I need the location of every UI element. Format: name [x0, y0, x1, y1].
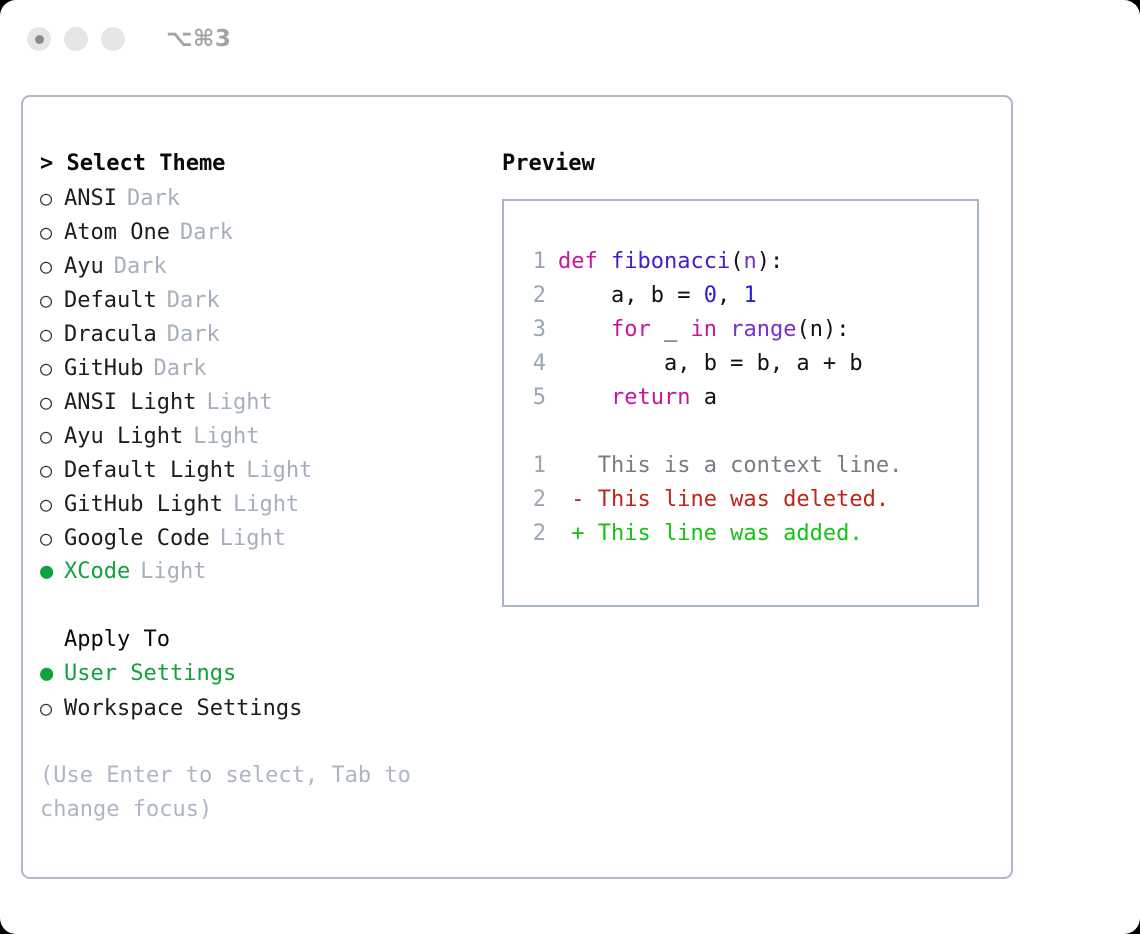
code-line: 3 for _ in range(n):	[516, 313, 977, 347]
theme-item-label: Default Light	[64, 454, 236, 488]
code-line-text: def fibonacci(n):	[558, 245, 783, 279]
keyboard-hint: (Use Enter to select, Tab to change focu…	[40, 759, 440, 827]
theme-item-label: Ayu Light	[64, 420, 183, 454]
diff-line: 2 - This line was deleted.	[516, 483, 977, 517]
radio-unselected-icon: ○	[40, 351, 64, 385]
code-token: (	[730, 249, 743, 274]
code-diff-gap	[516, 415, 977, 449]
code-line-number: 3	[516, 313, 546, 347]
code-token: a	[704, 385, 717, 410]
theme-item-xcode[interactable]: ●XCodeLight	[40, 555, 490, 589]
theme-item-variant: Light	[233, 488, 299, 522]
code-line-number: 2	[516, 279, 546, 313]
theme-item-variant: Light	[246, 454, 312, 488]
code-line-number: 1	[516, 245, 546, 279]
list-gap	[40, 589, 490, 623]
code-line: 5 return a	[516, 381, 977, 415]
radio-unselected-icon: ○	[40, 453, 64, 487]
diff-line-text: + This line was added.	[558, 517, 863, 551]
apply-to-heading: Apply To	[40, 623, 490, 657]
code-line-text: a, b = 0, 1	[558, 279, 757, 313]
radio-unselected-icon: ○	[40, 487, 64, 521]
radio-unselected-icon: ○	[40, 385, 64, 419]
code-line: 2 a, b = 0, 1	[516, 279, 977, 313]
code-line-text: return a	[558, 381, 717, 415]
code-line-number: 4	[516, 347, 546, 381]
diff-line-number: 2	[516, 517, 546, 551]
theme-item-variant: Dark	[153, 352, 206, 386]
code-token: (n):	[796, 317, 849, 342]
theme-item-variant: Light	[206, 386, 272, 420]
theme-item-variant: Light	[193, 420, 259, 454]
code-line: 1def fibonacci(n):	[516, 245, 977, 279]
code-token: in	[690, 317, 730, 342]
code-token: n	[743, 249, 756, 274]
code-token: _	[664, 317, 691, 342]
theme-item-label: Ayu	[64, 250, 104, 284]
code-token: return	[558, 385, 704, 410]
theme-item-ayu[interactable]: ○AyuDark	[40, 249, 490, 283]
radio-unselected-icon: ○	[40, 317, 64, 351]
main-panel: > Select Theme ○ANSIDark○Atom OneDark○Ay…	[21, 95, 1013, 879]
radio-unselected-icon: ○	[40, 419, 64, 453]
theme-item-variant: Dark	[114, 250, 167, 284]
record-dot-inner	[35, 35, 44, 44]
diff-line-number: 1	[516, 449, 546, 483]
theme-item-github[interactable]: ○GitHubDark	[40, 351, 490, 385]
code-line-number: 5	[516, 381, 546, 415]
code-token: fibonacci	[611, 249, 730, 274]
window-controls	[27, 27, 125, 51]
theme-item-variant: Dark	[127, 182, 180, 216]
preview-heading: Preview	[502, 147, 992, 181]
apply-to-option-label: User Settings	[64, 657, 236, 691]
diff-line-number: 2	[516, 483, 546, 517]
theme-item-label: ANSI	[64, 182, 117, 216]
theme-item-label: ANSI Light	[64, 386, 196, 420]
theme-item-atom-one[interactable]: ○Atom OneDark	[40, 215, 490, 249]
theme-item-label: GitHub Light	[64, 488, 223, 522]
preview-box: 1def fibonacci(n):2 a, b = 0, 13 for _ i…	[502, 199, 979, 607]
record-dot-icon[interactable]	[27, 27, 51, 51]
diff-line: 1 This is a context line.	[516, 449, 977, 483]
theme-item-label: Google Code	[64, 522, 210, 556]
diff-line-text: This is a context line.	[558, 449, 902, 483]
theme-selector-column: > Select Theme ○ANSIDark○Atom OneDark○Ay…	[40, 147, 490, 827]
preview-column: Preview 1def fibonacci(n):2 a, b = 0, 13…	[502, 147, 992, 607]
code-token: a, b =	[558, 283, 704, 308]
code-token: a, b = b, a + b	[558, 351, 863, 376]
theme-item-dracula[interactable]: ○DraculaDark	[40, 317, 490, 351]
theme-item-label: XCode	[64, 555, 130, 589]
code-token: def	[558, 249, 611, 274]
code-token: for	[558, 317, 664, 342]
theme-item-ansi-light[interactable]: ○ANSI LightLight	[40, 385, 490, 419]
theme-item-ayu-light[interactable]: ○Ayu LightLight	[40, 419, 490, 453]
code-token: 1	[743, 283, 756, 308]
diff-line-text: - This line was deleted.	[558, 483, 889, 517]
radio-unselected-icon: ○	[40, 691, 64, 725]
code-token: range	[730, 317, 796, 342]
code-token: ):	[757, 249, 784, 274]
diff-sample: 1 This is a context line.2 - This line w…	[516, 449, 977, 551]
theme-item-variant: Light	[220, 522, 286, 556]
apply-to-option-label: Workspace Settings	[64, 692, 302, 726]
theme-item-label: GitHub	[64, 352, 143, 386]
theme-item-default-light[interactable]: ○Default LightLight	[40, 453, 490, 487]
theme-item-default[interactable]: ○DefaultDark	[40, 283, 490, 317]
theme-item-label: Atom One	[64, 216, 170, 250]
radio-selected-icon: ●	[40, 657, 64, 691]
theme-item-ansi[interactable]: ○ANSIDark	[40, 181, 490, 215]
radio-unselected-icon: ○	[40, 283, 64, 317]
code-token: ,	[717, 283, 744, 308]
theme-item-variant: Dark	[167, 284, 220, 318]
dot-2-icon[interactable]	[64, 27, 88, 51]
theme-item-google-code[interactable]: ○Google CodeLight	[40, 521, 490, 555]
radio-unselected-icon: ○	[40, 249, 64, 283]
diff-line: 2 + This line was added.	[516, 517, 977, 551]
theme-item-variant: Dark	[180, 216, 233, 250]
theme-item-label: Dracula	[64, 318, 157, 352]
theme-item-label: Default	[64, 284, 157, 318]
radio-unselected-icon: ○	[40, 181, 64, 215]
apply-to-option-user-settings[interactable]: ●User Settings	[40, 657, 490, 691]
theme-item-github-light[interactable]: ○GitHub LightLight	[40, 487, 490, 521]
code-line-text: for _ in range(n):	[558, 313, 849, 347]
shortcut-label: ⌥⌘3	[166, 26, 231, 52]
code-token: 0	[704, 283, 717, 308]
radio-unselected-icon: ○	[40, 521, 64, 555]
apply-to-list: ●User Settings○Workspace Settings	[40, 657, 490, 725]
theme-list: ○ANSIDark○Atom OneDark○AyuDark○DefaultDa…	[40, 181, 490, 589]
title-bar: ⌥⌘3	[0, 0, 1140, 78]
apply-to-option-workspace-settings[interactable]: ○Workspace Settings	[40, 691, 490, 725]
radio-unselected-icon: ○	[40, 215, 64, 249]
dot-3-icon[interactable]	[101, 27, 125, 51]
code-line: 4 a, b = b, a + b	[516, 347, 977, 381]
radio-selected-icon: ●	[40, 555, 64, 589]
code-line-text: a, b = b, a + b	[558, 347, 863, 381]
select-theme-heading: > Select Theme	[40, 147, 490, 181]
theme-item-variant: Light	[140, 555, 206, 589]
theme-item-variant: Dark	[167, 318, 220, 352]
app-window: ⌥⌘3 > Select Theme ○ANSIDark○Atom OneDar…	[0, 0, 1140, 934]
code-sample: 1def fibonacci(n):2 a, b = 0, 13 for _ i…	[516, 245, 977, 415]
